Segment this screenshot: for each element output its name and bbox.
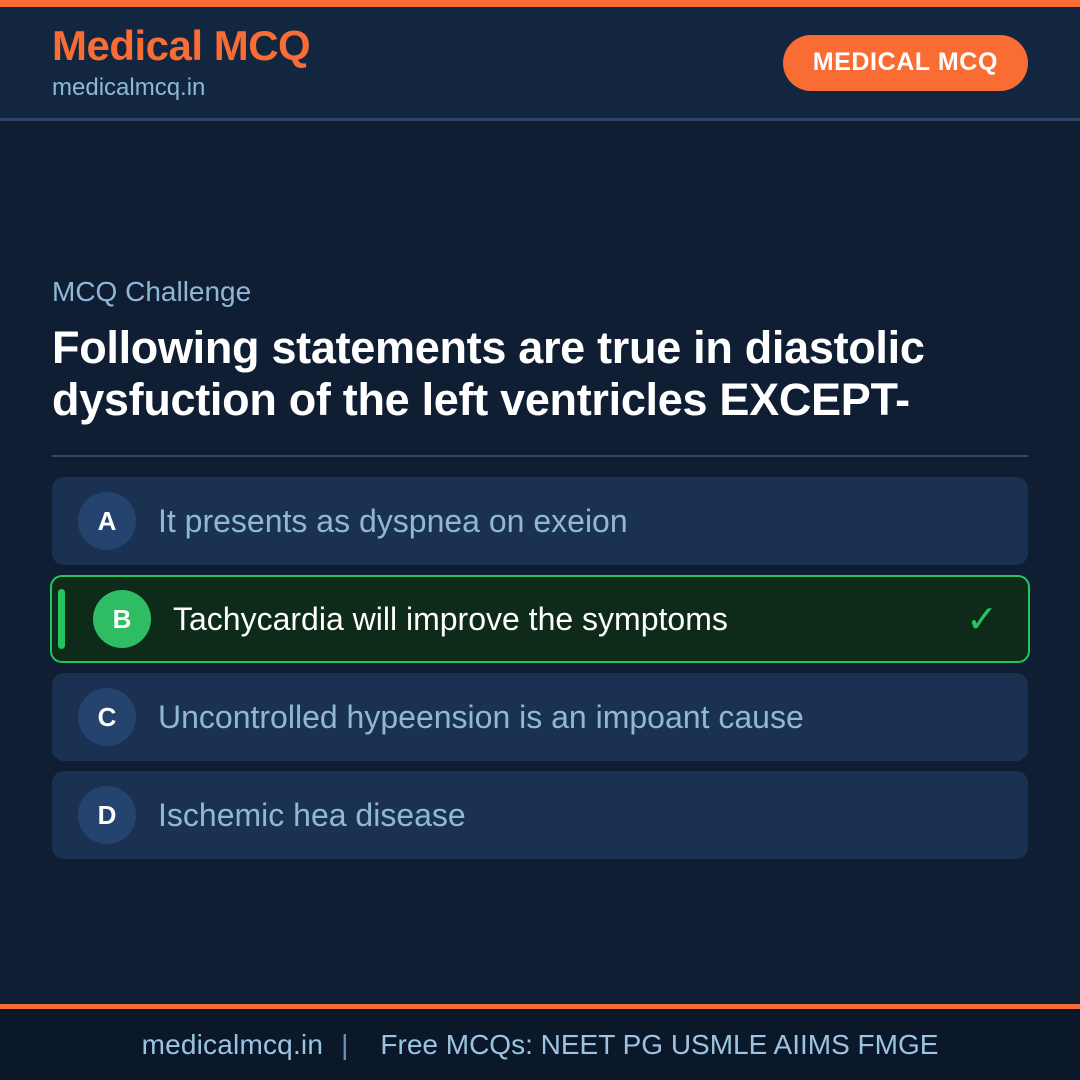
main-content: MCQ Challenge Following statements are t… xyxy=(0,121,1080,1004)
option-text-d: Ischemic hea disease xyxy=(158,796,958,834)
eyebrow-label: MCQ Challenge xyxy=(52,277,1028,308)
options-list: A It presents as dyspnea on exeion B Tac… xyxy=(52,477,1028,859)
brand-title: Medical MCQ xyxy=(52,24,310,68)
option-letter-a: A xyxy=(78,492,136,550)
footer-separator: | xyxy=(323,1029,366,1061)
option-text-c: Uncontrolled hypeension is an impoant ca… xyxy=(158,698,958,736)
question-divider xyxy=(52,455,1028,457)
page-footer: medicalmcq.in | Free MCQs: NEET PG USMLE… xyxy=(0,1009,1080,1080)
brand-block: Medical MCQ medicalmcq.in xyxy=(52,24,310,100)
medical-mcq-badge: MEDICAL MCQ xyxy=(783,35,1028,91)
option-text-a: It presents as dyspnea on exeion xyxy=(158,502,958,540)
option-row-d[interactable]: D Ischemic hea disease xyxy=(52,771,1028,859)
page-header: Medical MCQ medicalmcq.in MEDICAL MCQ xyxy=(0,7,1080,121)
option-row-c[interactable]: C Uncontrolled hypeension is an impoant … xyxy=(52,673,1028,761)
footer-site: medicalmcq.in xyxy=(142,1029,324,1061)
option-row-b[interactable]: B Tachycardia will improve the symptoms … xyxy=(50,575,1030,663)
option-text-b: Tachycardia will improve the symptoms xyxy=(173,600,960,638)
option-letter-b: B xyxy=(93,590,151,648)
check-icon-b: ✓ xyxy=(960,597,1004,642)
option-row-a[interactable]: A It presents as dyspnea on exeion xyxy=(52,477,1028,565)
top-accent-bar xyxy=(0,0,1080,7)
footer-tagline: Free MCQs: NEET PG USMLE AIIMS FMGE xyxy=(366,1029,938,1061)
question-text: Following statements are true in diastol… xyxy=(52,322,1012,427)
option-letter-d: D xyxy=(78,786,136,844)
correct-accent-bar xyxy=(58,589,65,649)
option-letter-c: C xyxy=(78,688,136,746)
brand-subtitle: medicalmcq.in xyxy=(52,75,310,100)
